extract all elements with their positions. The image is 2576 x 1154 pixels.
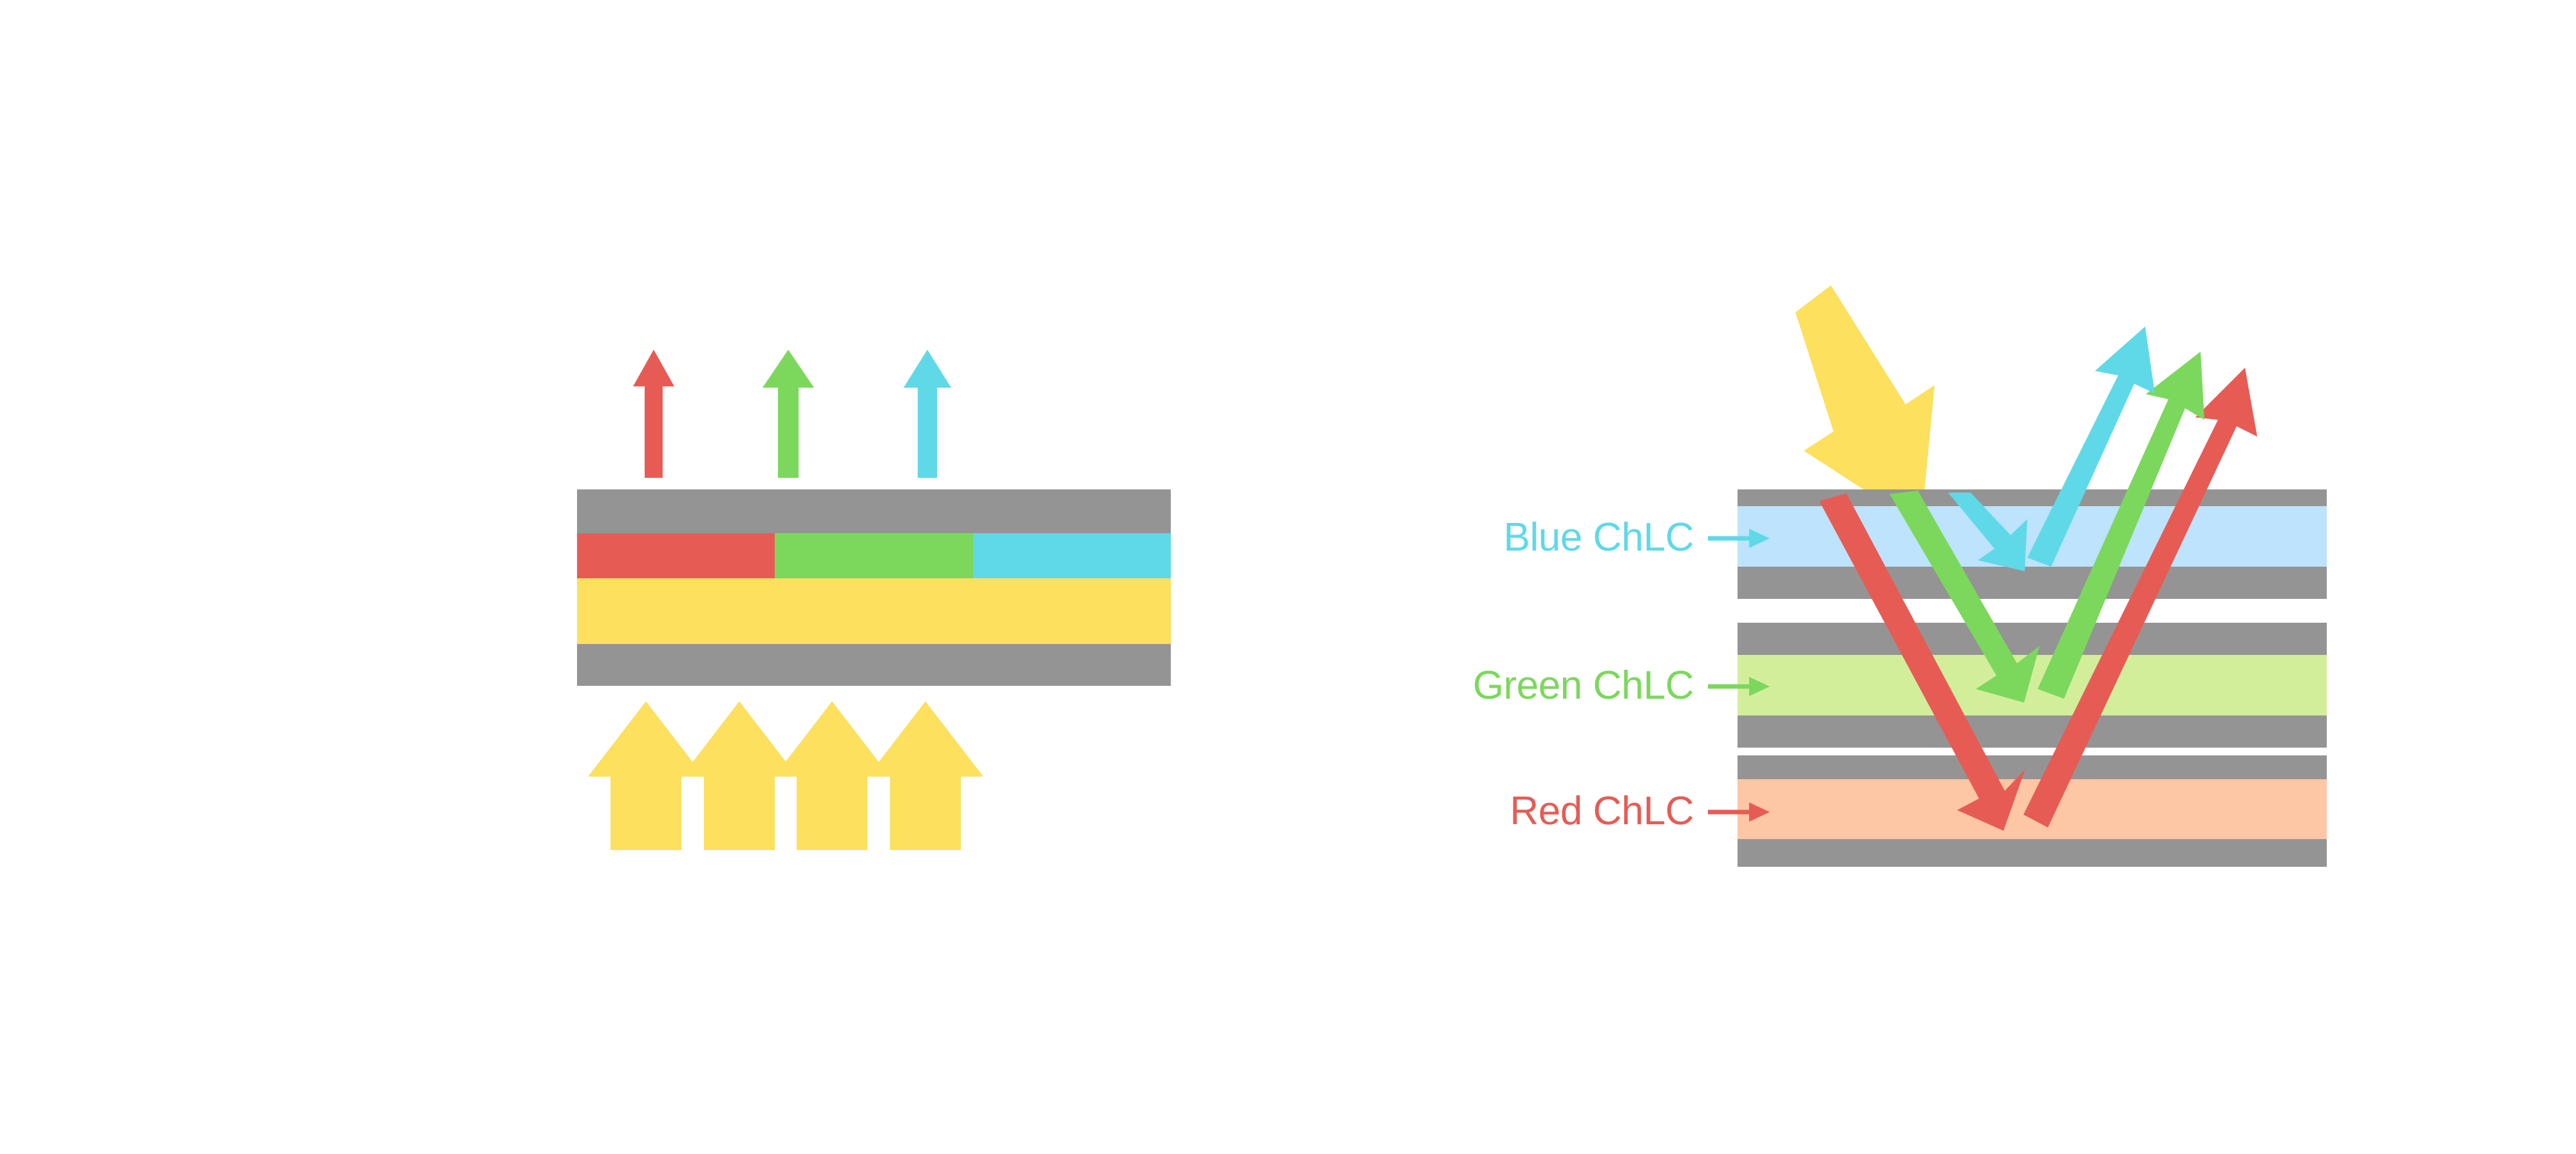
green-chlc-group xyxy=(1738,623,2327,748)
blue-subpixel xyxy=(973,533,1171,578)
green-chlc-label: Green ChLC xyxy=(1473,663,1694,708)
red-subpixel xyxy=(577,533,775,578)
left-layer-stack xyxy=(577,489,1171,686)
green-group-top-substrate xyxy=(1738,623,2327,655)
diagram-canvas: Blue ChLC Green ChLC Red ChLC xyxy=(0,0,2576,1154)
figure-root: Blue ChLC Green ChLC Red ChLC xyxy=(0,0,2576,1154)
red-group-top-substrate xyxy=(1738,755,2327,779)
blue-chlc-label: Blue ChLC xyxy=(1504,515,1694,560)
red-chlc-label: Red ChLC xyxy=(1510,789,1694,833)
backlight-layer xyxy=(577,578,1171,644)
left-top-substrate xyxy=(577,489,1171,533)
red-group-bottom-substrate xyxy=(1738,839,2327,867)
blue-group-bottom-substrate xyxy=(1738,567,2327,599)
green-group-bottom-substrate xyxy=(1738,715,2327,748)
left-bottom-substrate xyxy=(577,644,1171,686)
green-subpixel xyxy=(775,533,973,578)
